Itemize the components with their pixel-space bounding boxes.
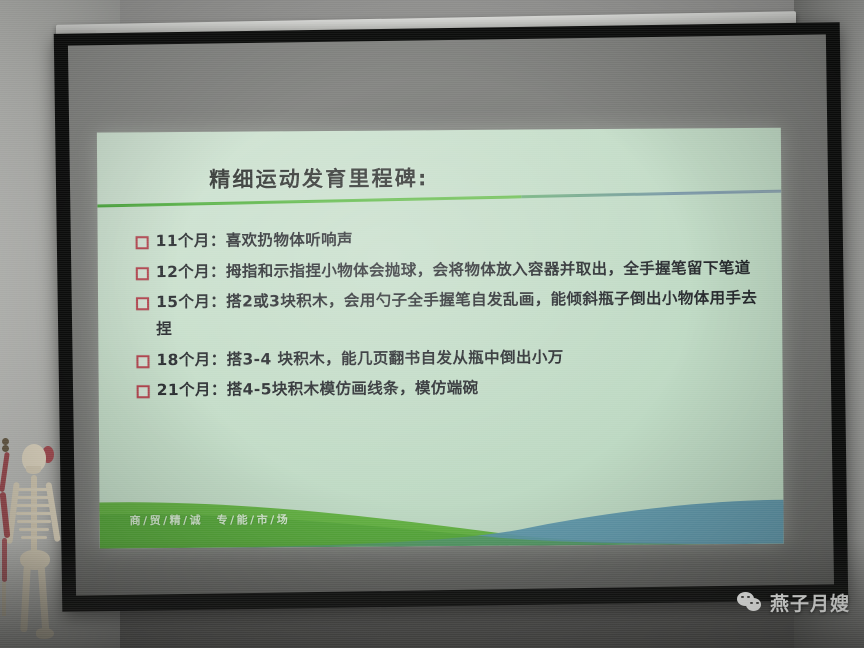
skeleton-rib (16, 504, 52, 507)
skeleton-muscle-left (0, 452, 10, 492)
list-item-age: 21个月： (157, 381, 227, 399)
title-rule-green-segment (97, 195, 521, 207)
skeleton-eye-socket (2, 445, 9, 452)
watermark: 燕子月嫂 (737, 589, 850, 616)
list-item: 21个月：搭4-5块积木模仿画线条，模仿端碗 (137, 373, 761, 404)
list-item-text: 18个月：搭3-4 块积木，能几页翻书自发从瓶中倒出小万 (156, 343, 760, 374)
skeleton-jaw (26, 466, 41, 474)
skeleton-eye-socket (2, 438, 9, 445)
list-item: 12个月：拇指和示指捏小物体会抛球，会将物体放入容器并取出，全手握笔留下笔道 (136, 255, 760, 286)
list-item: 11个月：喜欢扔物体听响声 (136, 224, 760, 255)
room-background: 精细运动发育里程碑: 11个月：喜欢扔物体听响声 12个月：拇指和示指捏小物体会… (0, 0, 864, 648)
skeleton-rib (17, 520, 51, 523)
list-item-text: 12个月：拇指和示指捏小物体会抛球，会将物体放入容器并取出，全手握笔留下笔道 (156, 255, 760, 286)
wechat-dot (747, 596, 750, 599)
projection-screen-surface: 精细运动发育里程碑: 11个月：喜欢扔物体听响声 12个月：拇指和示指捏小物体会… (68, 34, 834, 595)
wechat-dot (750, 602, 753, 605)
list-item-age: 18个月： (156, 350, 226, 368)
list-item-age: 11个月： (156, 232, 226, 250)
list-item: 18个月：搭3-4 块积木，能几页翻书自发从瓶中倒出小万 (136, 343, 760, 374)
skeleton-rib (18, 488, 50, 491)
floor-shadow (0, 538, 864, 648)
projected-slide: 精细运动发育里程碑: 11个月：喜欢扔物体听响声 12个月：拇指和示指捏小物体会… (97, 128, 784, 549)
list-item-desc: 搭4-5块积木模仿画线条，模仿端碗 (227, 379, 479, 399)
list-item-desc: 拇指和示指捏小物体会抛球，会将物体放入容器并取出，全手握笔留下笔道 (226, 259, 751, 281)
list-item-text: 11个月：喜欢扔物体听响声 (156, 224, 760, 255)
watermark-label: 燕子月嫂 (770, 589, 850, 616)
square-bullet-icon (136, 267, 149, 280)
milestone-bullet-list: 11个月：喜欢扔物体听响声 12个月：拇指和示指捏小物体会抛球，会将物体放入容器… (136, 224, 761, 408)
list-item-age: 15个月： (156, 293, 226, 311)
skeleton-rib (16, 512, 52, 515)
square-bullet-icon (136, 236, 149, 249)
wechat-dot (756, 602, 759, 605)
list-item-age: 12个月： (156, 262, 226, 280)
list-item-desc: 搭2或3块积木，会用勺子全手握笔自发乱画，能倾斜瓶子倒出小物体用手去捏 (156, 289, 757, 338)
skeleton-rib (19, 528, 49, 531)
list-item: 15个月：搭2或3块积木，会用勺子全手握笔自发乱画，能倾斜瓶子倒出小物体用手去捏 (136, 285, 760, 343)
wechat-icon (737, 592, 763, 614)
title-rule-blue-segment (521, 190, 781, 199)
skeleton-rib (17, 496, 51, 499)
list-item-desc: 搭3-4 块积木，能几页翻书自发从瓶中倒出小万 (226, 348, 563, 368)
slide-title-block: 精细运动发育里程碑: (97, 146, 781, 219)
footer-tagline: 商/贸/精/诚 专/能/市/场 (130, 511, 291, 528)
wechat-dot (741, 596, 744, 599)
title-divider-rule (97, 190, 781, 208)
projection-screen-frame: 精细运动发育里程碑: 11个月：喜欢扔物体听响声 12个月：拇指和示指捏小物体会… (54, 22, 848, 612)
square-bullet-icon (137, 385, 150, 398)
list-item-text: 21个月：搭4-5块积木模仿画线条，模仿端碗 (157, 373, 761, 404)
square-bullet-icon (136, 298, 149, 311)
square-bullet-icon (136, 355, 149, 368)
list-item-text: 15个月：搭2或3块积木，会用勺子全手握笔自发乱画，能倾斜瓶子倒出小物体用手去捏 (156, 285, 760, 343)
wechat-bubble-small (746, 598, 761, 611)
list-item-desc: 喜欢扔物体听响声 (226, 231, 353, 250)
slide-title: 精细运动发育里程碑: (209, 162, 429, 194)
